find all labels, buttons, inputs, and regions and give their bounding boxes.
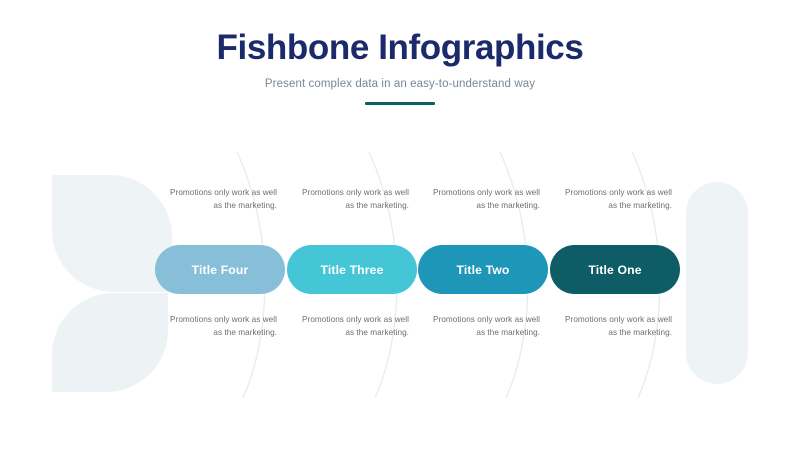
branch-pill-three[interactable]: Title Three <box>287 245 417 294</box>
branch-pill-label: Title Two <box>456 263 509 277</box>
branch-pill-label: Title One <box>588 263 641 277</box>
branch-note-top: Promotions only work as well as the mark… <box>297 186 409 212</box>
branch-pill-label: Title Four <box>192 263 249 277</box>
branch-four: Promotions only work as well as the mark… <box>155 0 285 450</box>
branch-note-bottom: Promotions only work as well as the mark… <box>165 313 277 339</box>
branch-two: Promotions only work as well as the mark… <box>418 0 548 450</box>
branch-note-bottom: Promotions only work as well as the mark… <box>428 313 540 339</box>
branch-pill-one[interactable]: Title One <box>550 245 680 294</box>
fishbone-diagram: Promotions only work as well as the mark… <box>0 0 800 450</box>
branch-note-bottom: Promotions only work as well as the mark… <box>297 313 409 339</box>
branch-note-top: Promotions only work as well as the mark… <box>428 186 540 212</box>
branch-pill-two[interactable]: Title Two <box>418 245 548 294</box>
branch-pill-label: Title Three <box>320 263 383 277</box>
branch-note-top: Promotions only work as well as the mark… <box>165 186 277 212</box>
branch-note-top: Promotions only work as well as the mark… <box>560 186 672 212</box>
branch-one: Promotions only work as well as the mark… <box>550 0 680 450</box>
slide-canvas: Fishbone Infographics Present complex da… <box>0 0 800 450</box>
branch-note-bottom: Promotions only work as well as the mark… <box>560 313 672 339</box>
branch-three: Promotions only work as well as the mark… <box>287 0 417 450</box>
branch-pill-four[interactable]: Title Four <box>155 245 285 294</box>
